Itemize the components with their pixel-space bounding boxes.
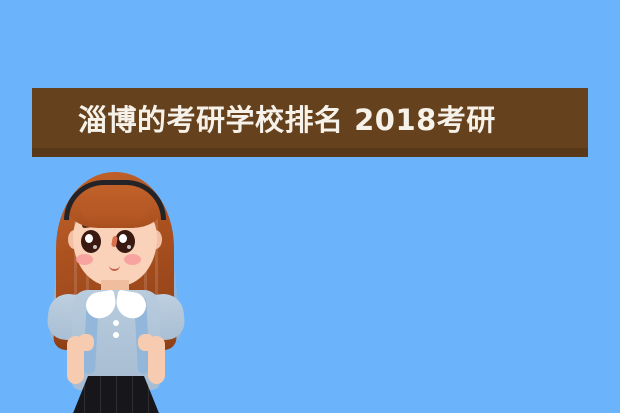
shirt-button-top [113,320,119,326]
eye-right [115,230,135,253]
shirt-button-bottom [113,332,119,338]
hand-right [138,334,154,351]
eye-left [81,230,101,253]
page-title: 淄博的考研学校排名 2018考研 [78,106,496,135]
hand-left [78,334,94,351]
blush-left [76,254,93,265]
blush-right [124,254,141,265]
cover-image: 淄博的考研学校排名 2018考研 [0,0,620,413]
schoolgirl-illustration [40,168,190,413]
title-banner: 淄博的考研学校排名 2018考研 [32,88,588,157]
